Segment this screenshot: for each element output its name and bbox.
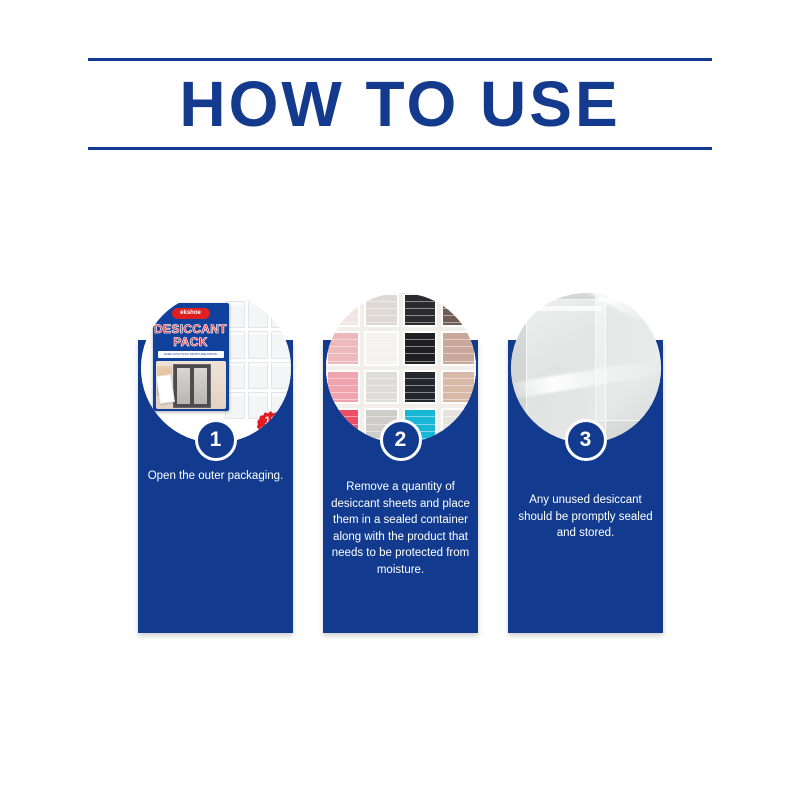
step-card-2: 2 Remove a quantity of desiccant sheets … [323, 293, 478, 633]
step-caption-2: Remove a quantity of desiccant sheets an… [329, 479, 472, 578]
step-card-3: 3 Any unused desiccant should be promptl… [508, 293, 663, 633]
drawer-cell [326, 293, 361, 327]
desiccant-sheet [248, 301, 268, 328]
product-package-box: ekshoe DESICCANT PACK SAFE NON-TOXIC MOI… [153, 303, 229, 411]
step-caption-1: Open the outer packaging. [144, 468, 287, 485]
drawer-cell [441, 408, 476, 443]
drawer-cell [441, 331, 476, 366]
package-title-line2: PACK [153, 335, 229, 349]
drawer-cell [326, 370, 361, 405]
header-rule-bottom [88, 147, 712, 150]
desiccant-sheet [248, 331, 268, 358]
step-card-1: ekshoe DESICCANT PACK SAFE NON-TOXIC MOI… [138, 293, 293, 633]
pieces-count-label: PIECES [257, 427, 285, 433]
step-number-badge-1: 1 [195, 419, 237, 461]
desiccant-sheet [271, 301, 291, 328]
steps-container: ekshoe DESICCANT PACK SAFE NON-TOXIC MOI… [138, 293, 663, 638]
desiccant-sheet [271, 362, 291, 389]
desiccant-sheet-large [156, 374, 175, 404]
drawer-cell [364, 331, 399, 366]
desiccant-sheet [271, 331, 291, 358]
brand-logo: ekshoe [172, 308, 210, 319]
step-caption-3: Any unused desiccant should be promptly … [514, 492, 657, 542]
drawer-cell [403, 293, 438, 327]
package-info-bar: SAFE NON-TOXIC MOISTURE PROOF [158, 351, 224, 358]
pieces-count-number: 12 [257, 416, 285, 427]
wardrobe-cabinet [173, 364, 211, 408]
step-number-badge-2: 2 [380, 419, 422, 461]
drawer-cell [364, 293, 399, 327]
step-number-badge-3: 3 [565, 419, 607, 461]
package-title-line1: DESICCANT [153, 322, 229, 336]
drawer-cell [441, 293, 476, 327]
desiccant-sheet [248, 362, 268, 389]
drawer-cell [403, 331, 438, 366]
pieces-count-badge: 12 PIECES [257, 411, 285, 439]
drawer-cell [326, 408, 361, 443]
drawer-cell [403, 370, 438, 405]
page-header: HOW TO USE [88, 58, 712, 150]
drawer-cell [441, 370, 476, 405]
page-title: HOW TO USE [88, 61, 712, 147]
drawer-cell [326, 331, 361, 366]
drawer-cell [364, 370, 399, 405]
package-scene-photo [156, 361, 226, 409]
desiccant-sheet-grid [225, 301, 291, 419]
